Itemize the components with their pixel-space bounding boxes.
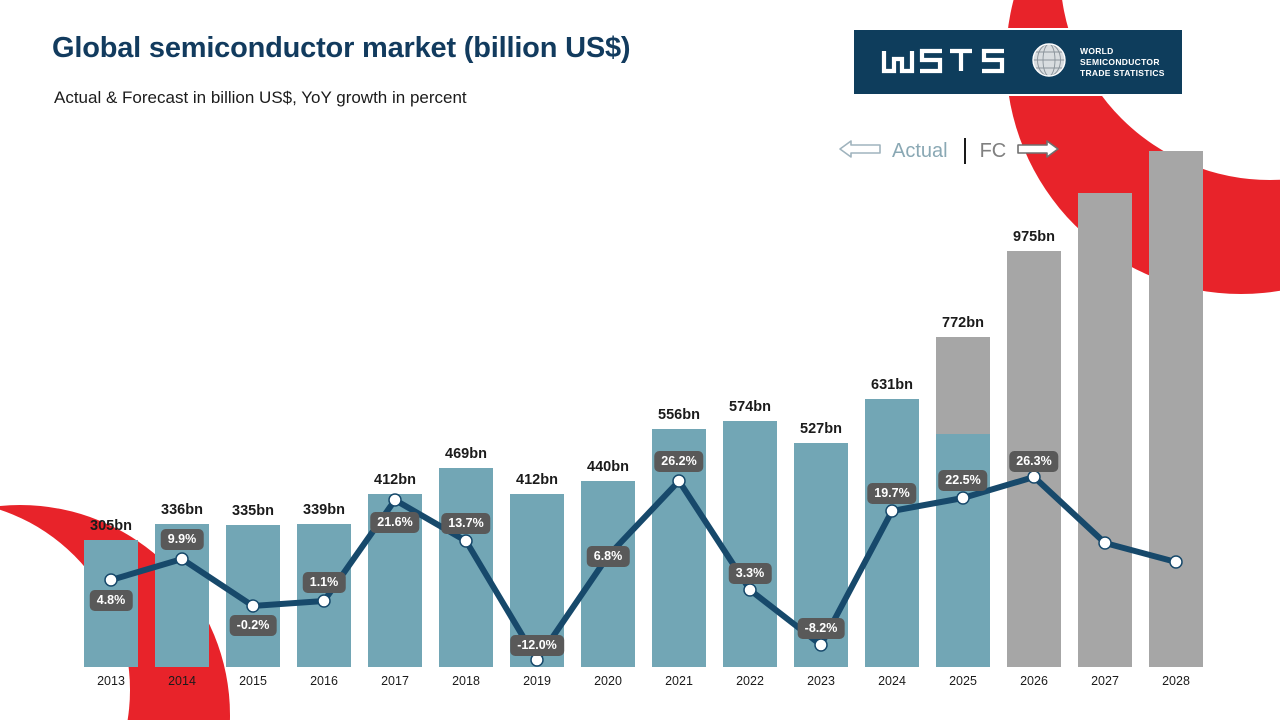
x-axis-label-2026: 2026 <box>997 674 1071 688</box>
bar-value-label-2025: 772bn <box>918 315 1008 331</box>
x-axis-label-2023: 2023 <box>784 674 858 688</box>
chart-plot-area: 2013201420152016201720182019202020212022… <box>0 0 1280 720</box>
arrow-right-icon <box>1016 138 1060 165</box>
wsts-wordmark-icon <box>880 47 1008 77</box>
x-axis-label-2021: 2021 <box>642 674 716 688</box>
x-axis-label-2013: 2013 <box>74 674 148 688</box>
x-axis-label-2016: 2016 <box>287 674 361 688</box>
bar-value-label-2018: 469bn <box>421 446 511 462</box>
bar-segment-actual <box>439 468 493 667</box>
wsts-logo-text: WORLD SEMICONDUCTOR TRADE STATISTICS <box>1080 46 1165 79</box>
bar-2022 <box>723 421 777 667</box>
x-axis-label-2015: 2015 <box>216 674 290 688</box>
actual-forecast-legend: Actual FC <box>838 134 1060 168</box>
bar-value-label-2024: 631bn <box>847 377 937 393</box>
growth-badge-2019: -12.0% <box>510 635 564 656</box>
bar-segment-actual <box>226 525 280 667</box>
globe-icon <box>1030 41 1068 84</box>
bar-value-label-2023: 527bn <box>776 421 866 437</box>
growth-badge-2014: 9.9% <box>161 529 204 550</box>
logo-line-2: SEMICONDUCTOR <box>1080 57 1165 68</box>
arrow-left-icon <box>838 138 882 165</box>
x-axis-label-2014: 2014 <box>145 674 219 688</box>
growth-badge-2013: 4.8% <box>90 590 133 611</box>
growth-badge-2025: 22.5% <box>938 470 987 491</box>
bar-2018 <box>439 468 493 667</box>
bar-segment-actual <box>936 434 990 667</box>
x-axis-label-2025: 2025 <box>926 674 1000 688</box>
bar-value-label-2013: 305bn <box>66 518 156 534</box>
bar-segment-actual <box>297 524 351 667</box>
page-subtitle: Actual & Forecast in billion US$, YoY gr… <box>54 88 467 108</box>
growth-badge-2018: 13.7% <box>441 513 490 534</box>
growth-badge-2024: 19.7% <box>867 483 916 504</box>
logo-line-1: WORLD <box>1080 46 1165 57</box>
growth-badge-2017: 21.6% <box>370 512 419 533</box>
x-axis-label-2017: 2017 <box>358 674 432 688</box>
logo-line-3: TRADE STATISTICS <box>1080 68 1165 79</box>
x-axis-label-2024: 2024 <box>855 674 929 688</box>
legend-fc-label: FC <box>980 140 1007 163</box>
legend-actual-label: Actual <box>892 140 948 163</box>
bar-2016 <box>297 524 351 667</box>
x-axis-label-2027: 2027 <box>1068 674 1142 688</box>
x-axis-label-2018: 2018 <box>429 674 503 688</box>
bar-value-label-2022: 574bn <box>705 399 795 415</box>
growth-badge-2021: 26.2% <box>654 451 703 472</box>
growth-badge-2016: 1.1% <box>303 572 346 593</box>
page-title: Global semiconductor market (billion US$… <box>52 32 630 65</box>
growth-badge-2020: 6.8% <box>587 546 630 567</box>
bar-segment-actual <box>865 399 919 667</box>
bar-value-label-2020: 440bn <box>563 459 653 475</box>
bar-2015 <box>226 525 280 667</box>
slide-canvas: Global semiconductor market (billion US$… <box>0 0 1280 720</box>
growth-badge-2015: -0.2% <box>230 615 277 636</box>
bar-2024 <box>865 399 919 667</box>
bar-2027 <box>1078 193 1132 667</box>
bar-2028 <box>1149 151 1203 667</box>
bar-segment-actual <box>581 481 635 667</box>
legend-divider <box>964 138 966 164</box>
x-axis-label-2020: 2020 <box>571 674 645 688</box>
x-axis-label-2022: 2022 <box>713 674 787 688</box>
bar-value-label-2017: 412bn <box>350 472 440 488</box>
x-axis-label-2028: 2028 <box>1139 674 1213 688</box>
growth-badge-2026: 26.3% <box>1009 451 1058 472</box>
bar-segment-forecast <box>936 337 990 434</box>
bar-segment-forecast <box>1078 193 1132 667</box>
x-axis-label-2019: 2019 <box>500 674 574 688</box>
bar-value-label-2026: 975bn <box>989 229 1079 245</box>
growth-badge-2022: 3.3% <box>729 563 772 584</box>
growth-badge-2023: -8.2% <box>798 618 845 639</box>
wsts-logo: WORLD SEMICONDUCTOR TRADE STATISTICS <box>852 28 1184 96</box>
bar-segment-forecast <box>1149 151 1203 667</box>
bar-value-label-2016: 339bn <box>279 502 369 518</box>
bar-segment-actual <box>723 421 777 667</box>
bar-2020 <box>581 481 635 667</box>
bar-2025 <box>936 337 990 667</box>
